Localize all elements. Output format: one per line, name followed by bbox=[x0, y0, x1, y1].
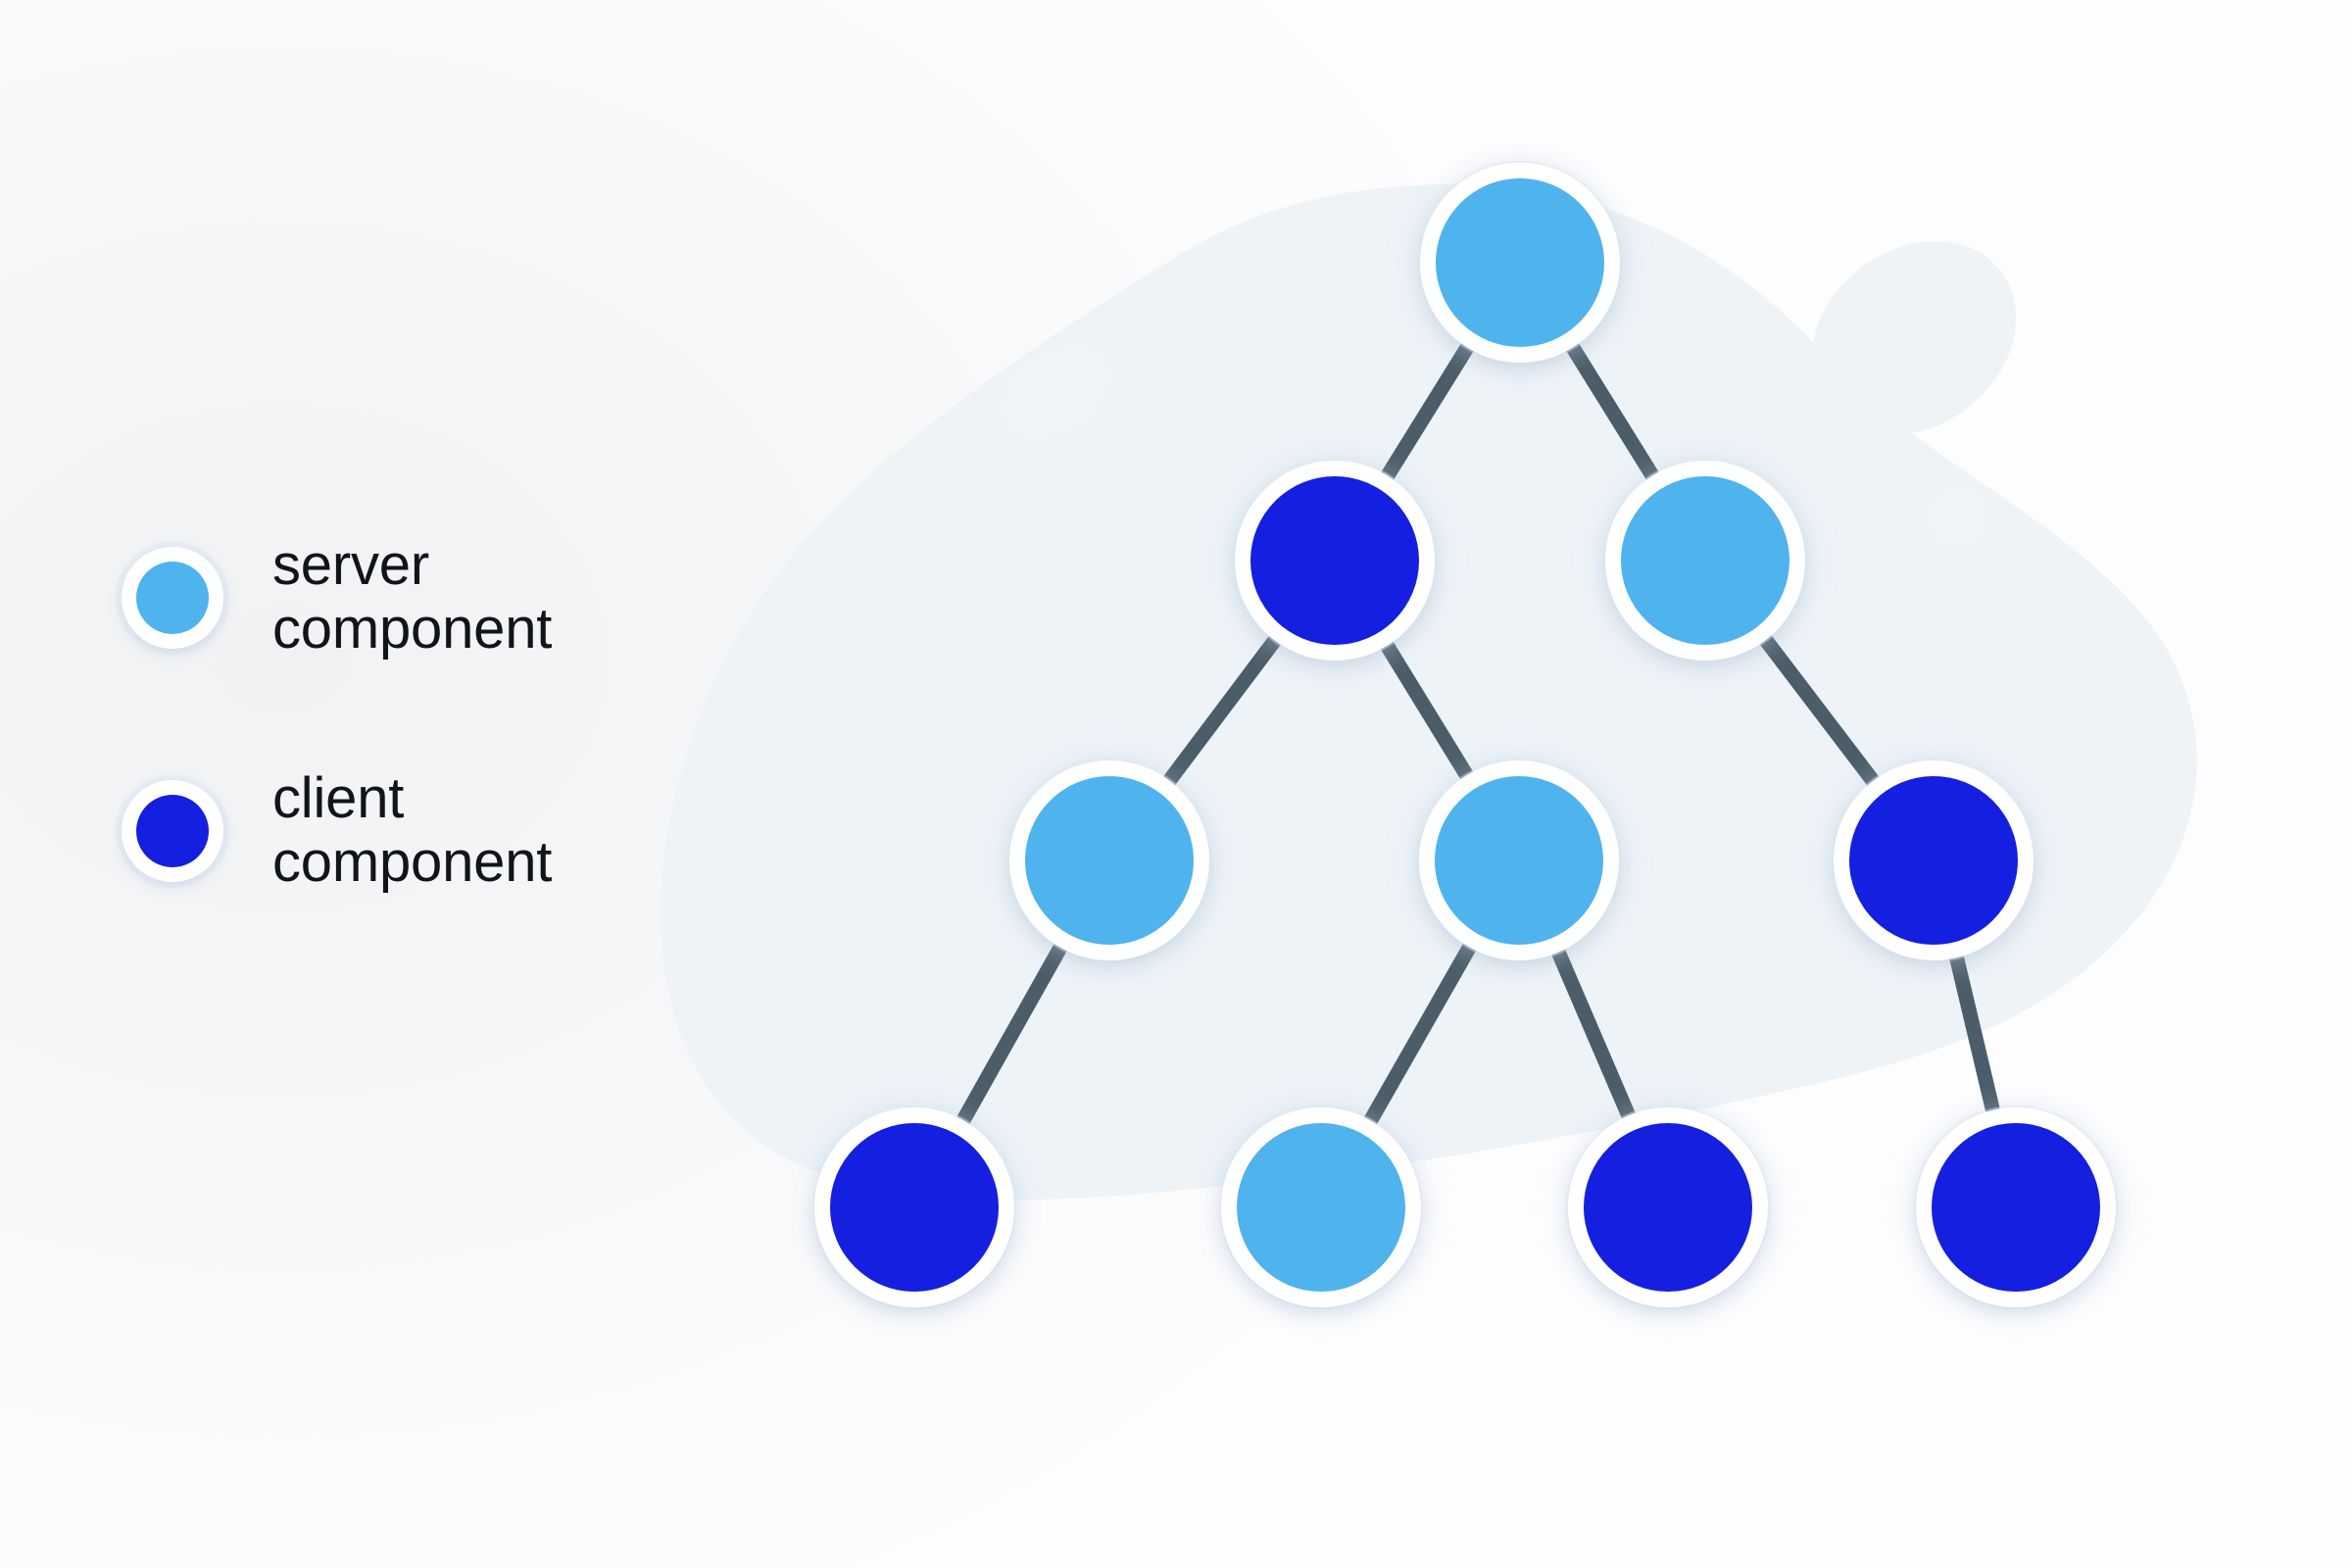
node-disc-server[interactable] bbox=[1621, 476, 1789, 645]
client-component-swatch bbox=[116, 774, 229, 888]
client-component-dot bbox=[136, 795, 209, 867]
legend-label-server: server component bbox=[272, 534, 552, 661]
legend-item-server[interactable]: server component bbox=[116, 534, 743, 661]
legend-label-client: client component bbox=[272, 767, 552, 895]
node-disc-server[interactable] bbox=[1436, 178, 1604, 347]
node-group bbox=[812, 161, 2118, 1309]
edge-n0-n1 bbox=[1386, 344, 1470, 479]
edge-group bbox=[961, 344, 1993, 1124]
node-n6-client[interactable] bbox=[812, 1105, 1016, 1309]
node-n1-client[interactable] bbox=[1233, 459, 1437, 662]
edge-n5-n9 bbox=[1956, 954, 1994, 1113]
node-n4-server[interactable] bbox=[1417, 759, 1621, 962]
server-component-dot bbox=[136, 562, 209, 634]
server-component-swatch bbox=[116, 541, 229, 655]
legend-item-client[interactable]: client component bbox=[116, 767, 743, 895]
legend: server component client component bbox=[116, 534, 743, 1001]
node-disc-server[interactable] bbox=[1237, 1123, 1405, 1292]
node-disc-client[interactable] bbox=[1250, 476, 1419, 645]
edge-n4-n7 bbox=[1369, 944, 1472, 1124]
node-n7-server[interactable] bbox=[1219, 1105, 1423, 1309]
node-n8-client[interactable] bbox=[1566, 1105, 1770, 1309]
node-disc-client[interactable] bbox=[1849, 776, 2018, 945]
node-n0-server[interactable] bbox=[1418, 161, 1622, 365]
node-n3-server[interactable] bbox=[1007, 759, 1211, 962]
node-disc-client[interactable] bbox=[1584, 1123, 1752, 1292]
edge-n4-n8 bbox=[1557, 949, 1631, 1119]
node-disc-client[interactable] bbox=[1932, 1123, 2100, 1292]
edge-n2-n5 bbox=[1763, 637, 1875, 784]
node-disc-server[interactable] bbox=[1025, 776, 1194, 945]
node-n9-client[interactable] bbox=[1914, 1105, 2118, 1309]
edge-n3-n6 bbox=[961, 944, 1062, 1123]
node-disc-server[interactable] bbox=[1435, 776, 1603, 945]
node-n2-server[interactable] bbox=[1603, 459, 1807, 662]
diagram-canvas: server component client component bbox=[0, 0, 2352, 1568]
edge-n1-n3 bbox=[1167, 637, 1277, 783]
edge-n1-n4 bbox=[1385, 642, 1468, 778]
node-n5-client[interactable] bbox=[1832, 759, 2035, 962]
node-disc-client[interactable] bbox=[830, 1123, 999, 1292]
edge-n0-n2 bbox=[1571, 344, 1655, 479]
